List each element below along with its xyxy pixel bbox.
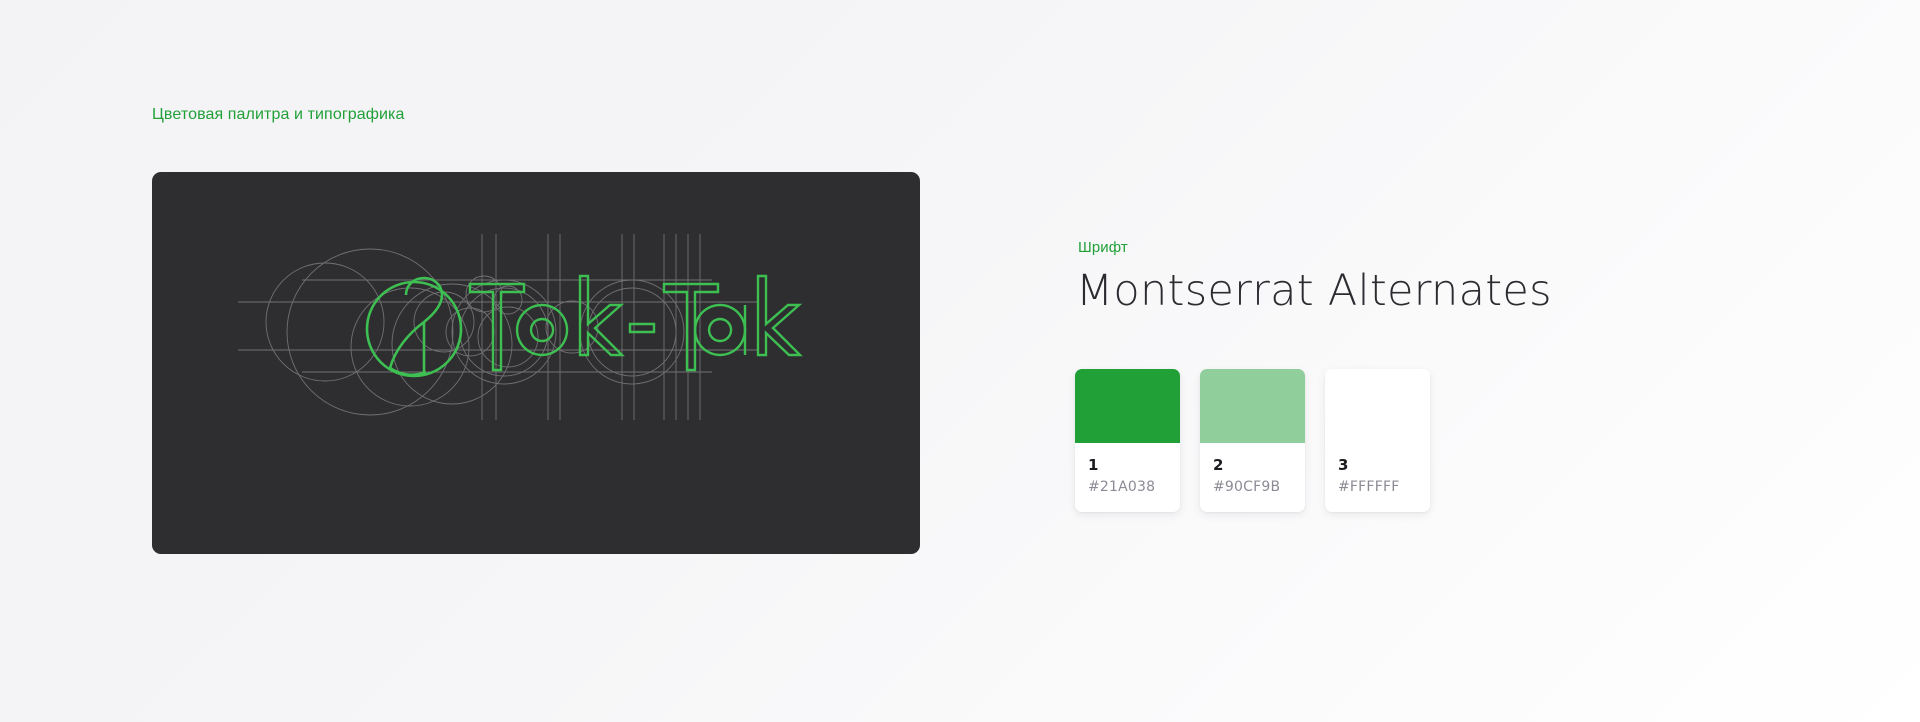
color-swatch-card[interactable]: 2 #90CF9B [1200,369,1305,512]
color-swatch-index: 1 [1088,456,1167,474]
color-swatch-meta: 2 #90CF9B [1200,443,1305,512]
logo-wordmark [470,276,800,370]
color-chip [1325,369,1430,443]
color-swatch-card[interactable]: 1 #21A038 [1075,369,1180,512]
color-swatch-meta: 3 #FFFFFF [1325,443,1430,512]
color-swatch-hex: #FFFFFF [1338,479,1417,496]
construction-guides [238,234,758,420]
font-section-label: Шрифт [1078,239,1128,256]
color-swatch-hex: #90CF9B [1213,479,1292,496]
color-chip [1200,369,1305,443]
color-swatch-meta: 1 #21A038 [1075,443,1180,512]
style-guide-page: Цветовая палитра и типографика [0,0,1920,722]
color-swatch-index: 3 [1338,456,1417,474]
font-name-display: Montserrat Alternates [1076,263,1552,319]
page-title: Цветовая палитра и типографика [152,106,405,124]
color-palette-row: 1 #21A038 2 #90CF9B 3 #FFFFFF [1075,369,1430,512]
color-chip [1075,369,1180,443]
logo-construction-art [152,172,920,554]
color-swatch-index: 2 [1213,456,1292,474]
logo-construction-panel [152,172,920,554]
color-swatch-card[interactable]: 3 #FFFFFF [1325,369,1430,512]
color-swatch-hex: #21A038 [1088,479,1167,496]
